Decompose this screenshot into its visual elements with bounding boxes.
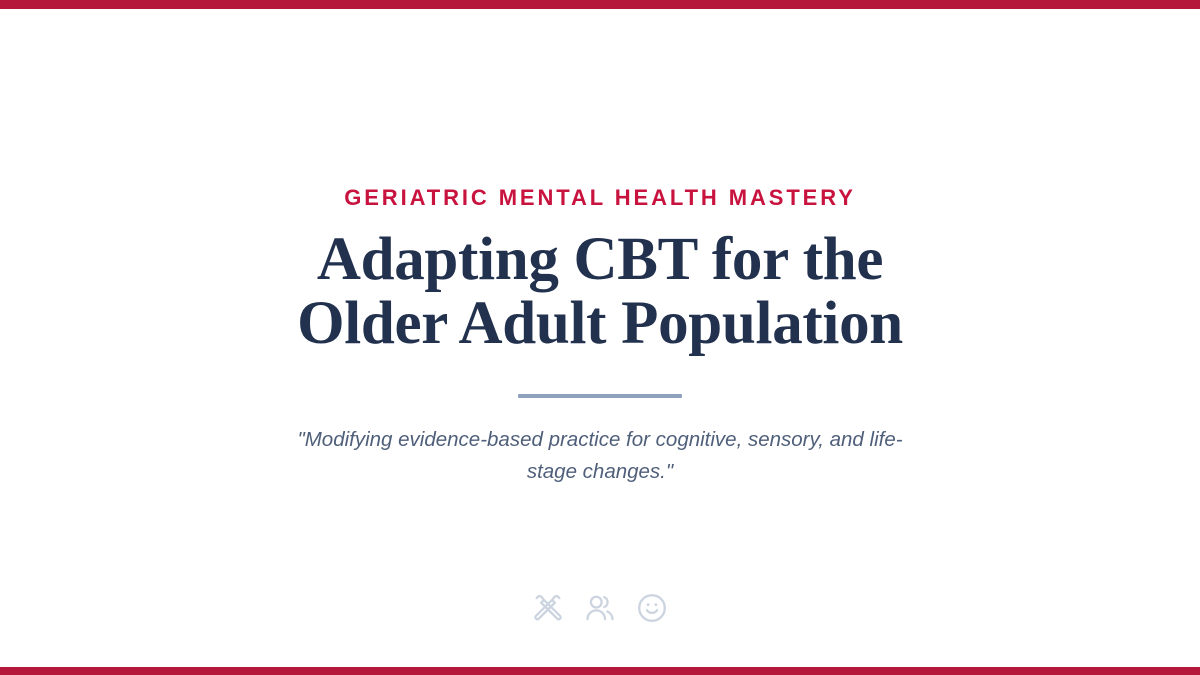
top-accent-bar	[0, 0, 1200, 9]
eyebrow-kicker: GERIATRIC MENTAL HEALTH MASTERY	[344, 186, 856, 210]
smiley-face-icon	[636, 592, 668, 624]
decorative-icon-row	[0, 592, 1200, 624]
bottom-accent-bar	[0, 667, 1200, 675]
title-slide: GERIATRIC MENTAL HEALTH MASTERY Adapting…	[0, 0, 1200, 675]
slide-content: GERIATRIC MENTAL HEALTH MASTERY Adapting…	[0, 186, 1200, 488]
design-tools-icon	[532, 592, 564, 624]
page-title: Adapting CBT for the Older Adult Populat…	[297, 210, 903, 356]
users-icon	[584, 592, 616, 624]
title-line-1: Adapting CBT for the	[297, 228, 903, 292]
subtitle-quote: "Modifying evidence-based practice for c…	[280, 398, 920, 488]
title-line-2: Older Adult Population	[297, 292, 903, 356]
